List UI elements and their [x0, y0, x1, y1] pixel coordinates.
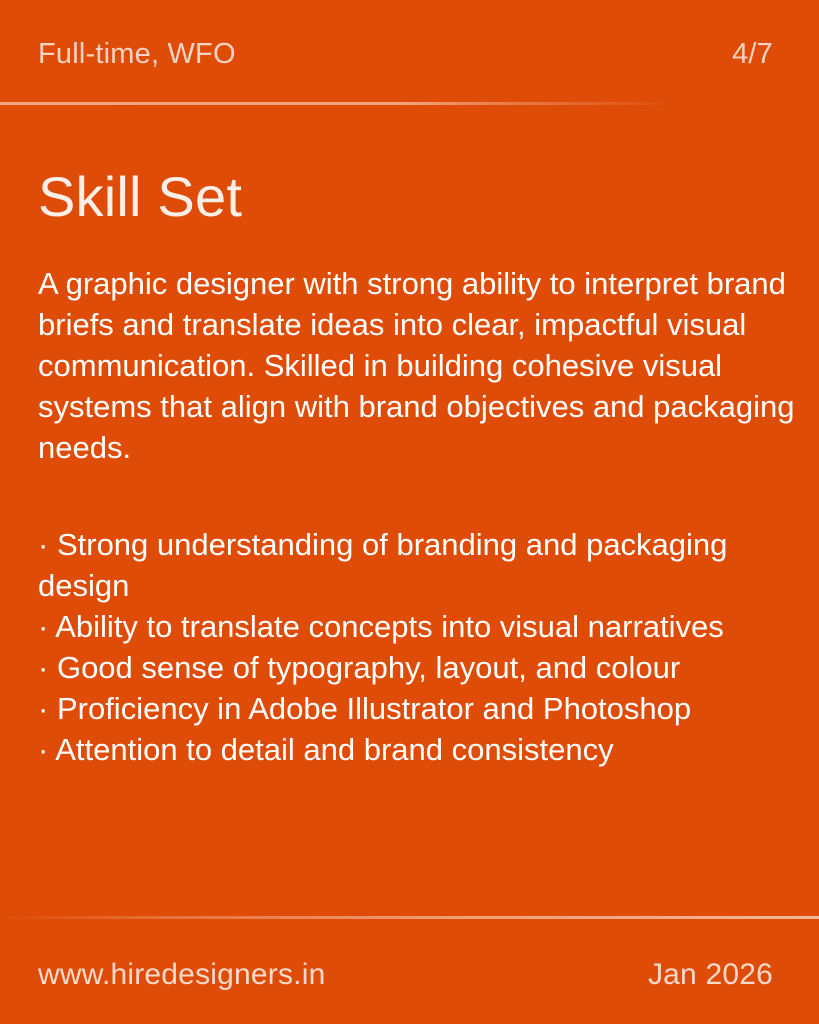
- page-title: Skill Set: [38, 168, 797, 227]
- footer-divider: [0, 916, 819, 919]
- slide-counter: 4/7: [732, 38, 773, 71]
- bullet-marker-icon: ·: [38, 691, 48, 726]
- employment-type-label: Full-time, WFO: [38, 38, 236, 71]
- website-url[interactable]: www.hiredesigners.in: [38, 958, 325, 992]
- publish-date: Jan 2026: [648, 958, 773, 992]
- list-item-label: Strong understanding of branding and pac…: [38, 527, 727, 603]
- skills-list: · Strong understanding of branding and p…: [38, 524, 797, 770]
- bullet-marker-icon: ·: [38, 527, 48, 562]
- list-item: · Attention to detail and brand consiste…: [38, 729, 797, 770]
- header-divider: [0, 102, 680, 105]
- list-item: · Proficiency in Adobe Illustrator and P…: [38, 688, 797, 729]
- list-item-label: Ability to translate concepts into visua…: [55, 609, 724, 644]
- bullet-marker-icon: ·: [38, 609, 48, 644]
- list-item: · Good sense of typography, layout, and …: [38, 647, 797, 688]
- bullet-marker-icon: ·: [38, 732, 48, 767]
- list-item-label: Proficiency in Adobe Illustrator and Pho…: [57, 691, 691, 726]
- card-footer: www.hiredesigners.in Jan 2026: [38, 952, 773, 998]
- list-item: · Strong understanding of branding and p…: [38, 524, 797, 606]
- list-item-label: Attention to detail and brand consistenc…: [55, 732, 613, 767]
- list-item: · Ability to translate concepts into vis…: [38, 606, 797, 647]
- job-post-card: Full-time, WFO 4/7 Skill Set A graphic d…: [0, 0, 819, 1024]
- role-summary: A graphic designer with strong ability t…: [38, 263, 797, 468]
- list-item-label: Good sense of typography, layout, and co…: [57, 650, 680, 685]
- bullet-marker-icon: ·: [38, 650, 48, 685]
- card-header: Full-time, WFO 4/7: [38, 30, 773, 78]
- card-content: Skill Set A graphic designer with strong…: [38, 168, 797, 770]
